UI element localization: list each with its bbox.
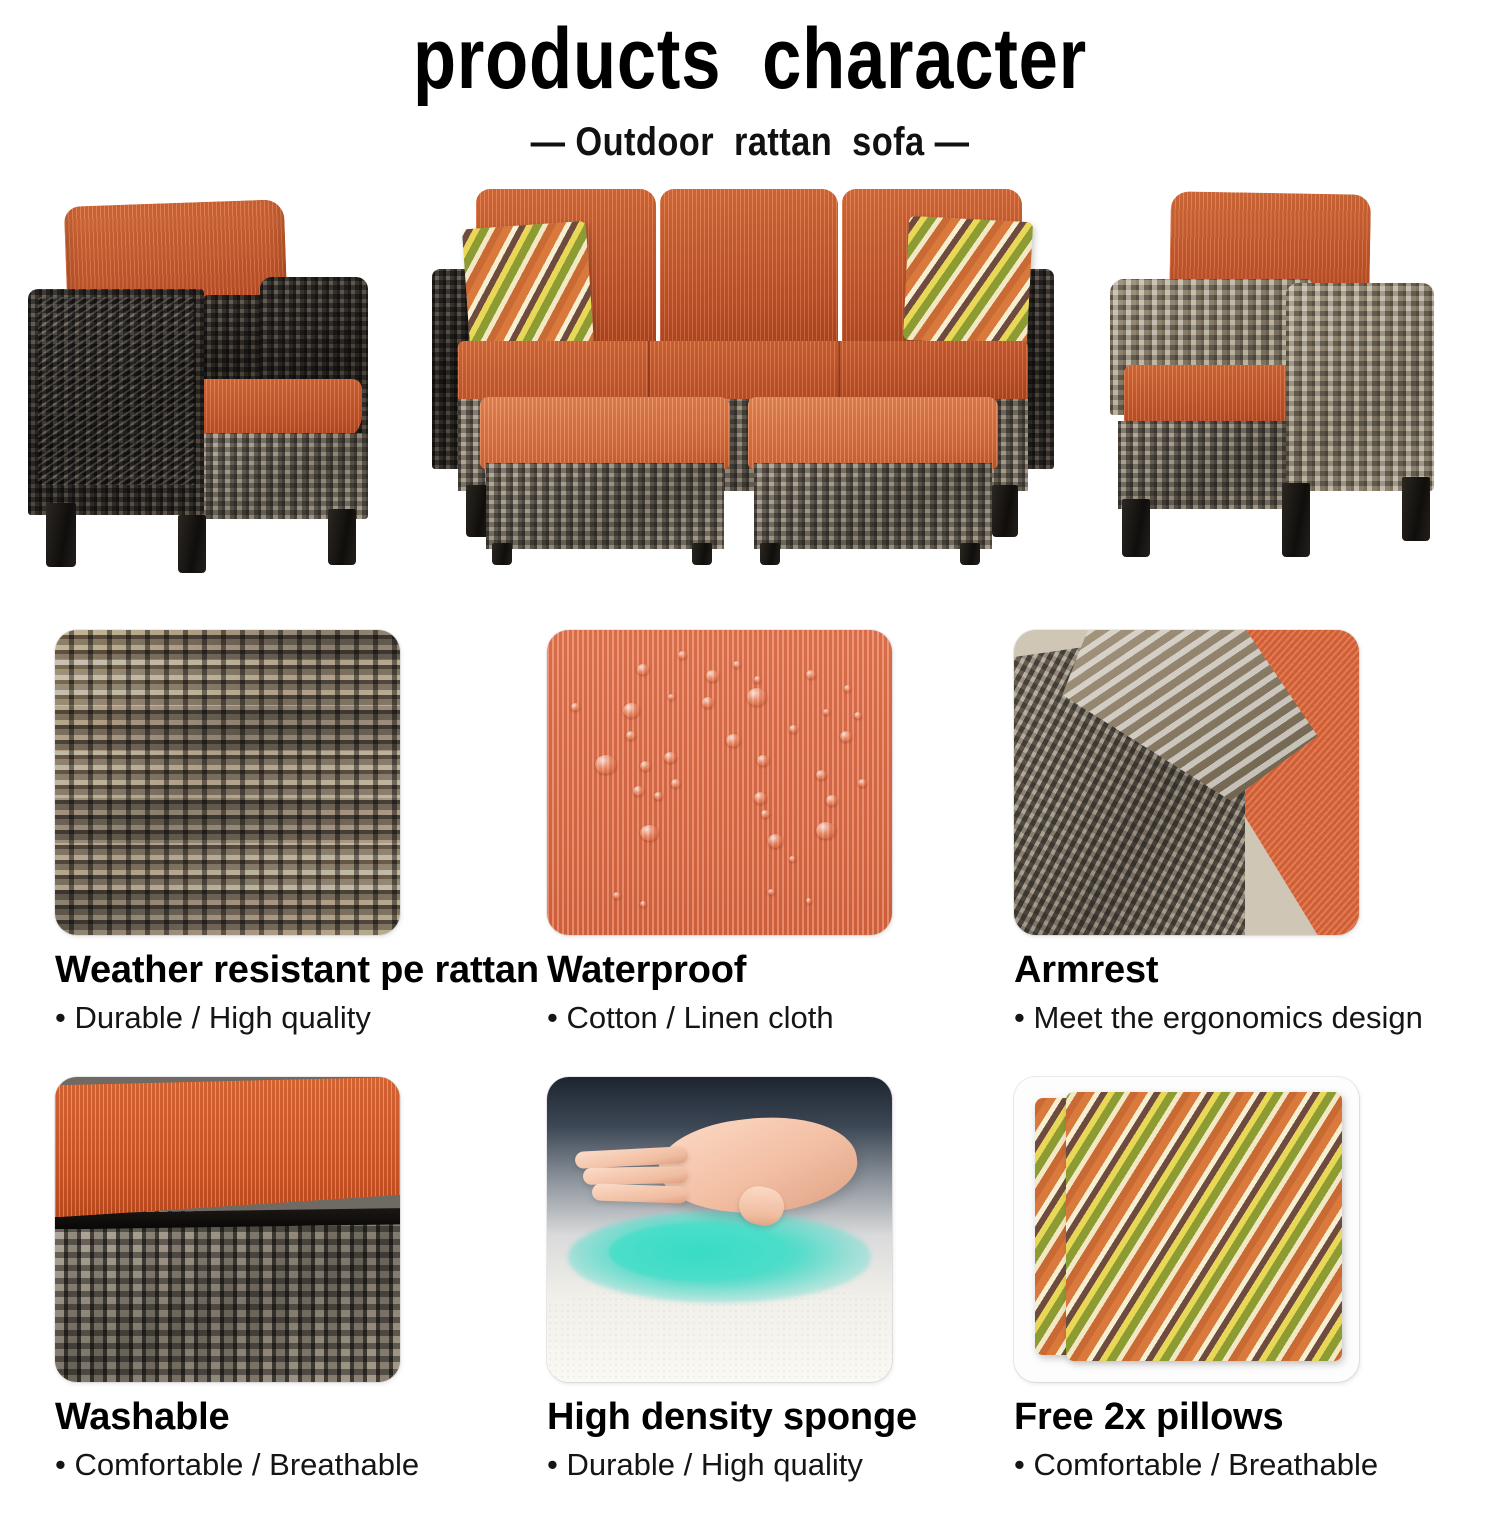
- feature-title: Armrest: [1014, 949, 1484, 992]
- feature-row-bottom: Washable • Comfortable / Breathable High…: [0, 1077, 1500, 1517]
- armchair-left-leg-front: [46, 503, 76, 567]
- sofa-seat-seam-2: [838, 341, 840, 403]
- ottoman-left-leg-2: [692, 543, 712, 565]
- feature-title: Washable: [55, 1396, 545, 1439]
- hand-finger-3: [591, 1183, 688, 1203]
- armchair-right-seat-cushion: [1124, 365, 1300, 429]
- armchair-right-leg-mid: [1282, 483, 1310, 557]
- ottoman-right-frame: [754, 463, 992, 549]
- armchair-right-armrest: [1286, 283, 1434, 491]
- feature-bullet: • Durable / High quality: [547, 1447, 922, 1483]
- feature-cell-high-density-sponge: High density sponge • Durable / High qua…: [547, 1077, 922, 1483]
- sofa-back-cushion-2: [660, 189, 838, 347]
- feature-cell-waterproof: Waterproof • Cotton / Linen cloth: [547, 630, 922, 1036]
- feature-grid: Weather resistant pe rattan • Durable / …: [0, 630, 1500, 1500]
- armchair-left-leg-rear: [328, 509, 356, 565]
- sofa-seat-seam-1: [648, 341, 650, 403]
- feature-title: Free 2x pillows: [1014, 1396, 1484, 1439]
- throw-pillow-left: [462, 221, 594, 353]
- feature-title: High density sponge: [547, 1396, 922, 1439]
- rattan-texture-image: [55, 630, 400, 935]
- feature-cell-weather-resistant-pe-rattan: Weather resistant pe rattan • Durable / …: [55, 630, 545, 1036]
- feature-cell-armrest: Armrest • Meet the ergonomics design: [1014, 630, 1484, 1036]
- water-droplets-group: [547, 630, 892, 935]
- armchair-left-seat-cushion: [186, 379, 362, 441]
- armchair-left: [28, 203, 368, 573]
- armchair-left-near-armrest: [28, 289, 204, 515]
- washable-wicker-weave: [55, 1211, 400, 1382]
- hand: [575, 1111, 858, 1239]
- sponge-hand-press-image: [547, 1077, 892, 1382]
- armchair-right-leg-left: [1122, 499, 1150, 557]
- ottoman-left-frame: [486, 463, 724, 549]
- armchair-right-leg-right: [1402, 477, 1430, 541]
- feature-row-top: Weather resistant pe rattan • Durable / …: [0, 630, 1500, 1070]
- pillow-front: [1066, 1092, 1342, 1360]
- throw-pillow-right: [903, 216, 1033, 346]
- feature-bullet: • Durable / High quality: [55, 1000, 545, 1036]
- armchair-left-leg-mid: [178, 515, 206, 573]
- feature-bullet: • Comfortable / Breathable: [55, 1447, 545, 1483]
- ottoman-left-leg-1: [492, 543, 512, 565]
- armchair-left-base: [186, 433, 368, 519]
- infographic-header: products character — Outdoor rattan sofa…: [0, 0, 1500, 165]
- page-subtitle: — Outdoor rattan sofa —: [105, 120, 1395, 165]
- washable-cushion-image: [55, 1077, 400, 1382]
- ottoman-right-leg-1: [760, 543, 780, 565]
- sofa-three-seat: [432, 189, 1052, 574]
- chevron-pillows-image: [1014, 1077, 1359, 1382]
- ottoman-left-cushion: [480, 397, 730, 469]
- feature-cell-free-2x-pillows: Free 2x pillows • Comfortable / Breathab…: [1014, 1077, 1484, 1483]
- armchair-right: [1096, 193, 1452, 573]
- waterproof-fabric-image: [547, 630, 892, 935]
- washable-orange-cushion: [55, 1077, 400, 1217]
- feature-title: Weather resistant pe rattan: [55, 949, 545, 992]
- sofa-seat-cushions: [458, 341, 1028, 403]
- ottoman-left: [480, 397, 730, 557]
- feature-bullet: • Cotton / Linen cloth: [547, 1000, 922, 1036]
- armrest-closeup-image: [1014, 630, 1359, 935]
- ottoman-right-cushion: [748, 397, 998, 469]
- hero-product-photo: [0, 179, 1500, 589]
- feature-title: Waterproof: [547, 949, 922, 992]
- hand-finger-2: [583, 1166, 688, 1184]
- feature-cell-washable: Washable • Comfortable / Breathable: [55, 1077, 545, 1483]
- feature-bullet: • Comfortable / Breathable: [1014, 1447, 1484, 1483]
- armchair-right-base: [1118, 421, 1304, 509]
- page-title: products character: [135, 14, 1365, 104]
- ottoman-right-leg-2: [960, 543, 980, 565]
- feature-bullet: • Meet the ergonomics design: [1014, 1000, 1484, 1036]
- ottoman-right: [748, 397, 998, 557]
